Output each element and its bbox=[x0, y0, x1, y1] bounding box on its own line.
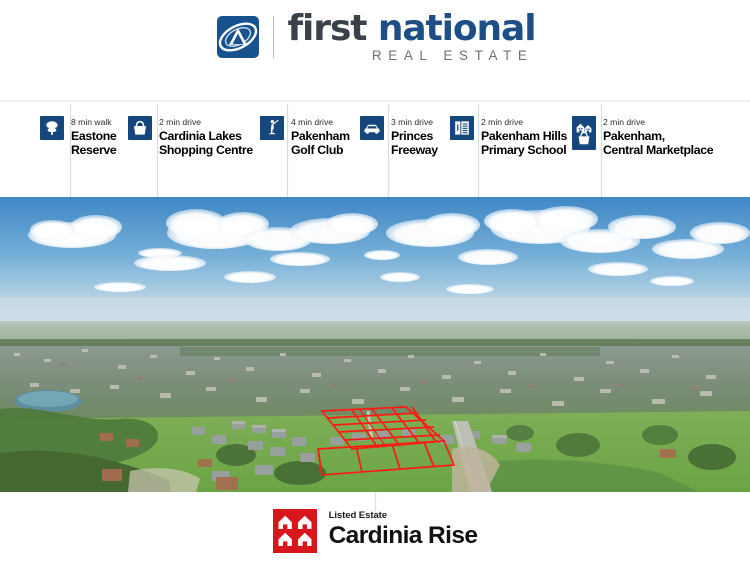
callout-pakenham-hills-primary-school[interactable]: 2 min drive Pakenham Hills Primary Schoo… bbox=[450, 116, 567, 158]
callout-time: 8 min walk bbox=[71, 117, 116, 128]
listed-estate-footer[interactable]: Listed Estate Cardinia Rise bbox=[0, 503, 750, 559]
callout-text: 2 min drive Pakenham Hills Primary Schoo… bbox=[481, 116, 567, 158]
estate-text: Listed Estate Cardinia Rise bbox=[329, 510, 478, 552]
brand-name-national: national bbox=[378, 8, 536, 49]
callout-text: 2 min drive Cardinia Lakes Shopping Cent… bbox=[159, 116, 253, 158]
callout-text: 8 min walk Eastone Reserve bbox=[71, 116, 116, 158]
aerial-photograph bbox=[0, 197, 750, 492]
callout-name: Princes Freeway bbox=[391, 129, 438, 158]
callout-text: 3 min drive Princes Freeway bbox=[391, 116, 438, 158]
brand-tagline: REAL ESTATE bbox=[288, 48, 536, 63]
estate-name: Cardinia Rise bbox=[329, 523, 478, 550]
callout-name: Pakenham, Central Marketplace bbox=[603, 129, 713, 158]
school-icon bbox=[450, 116, 474, 140]
brand-name-first: first bbox=[288, 8, 378, 49]
brand-divider bbox=[273, 16, 274, 58]
callout-time: 2 min drive bbox=[481, 117, 567, 128]
callout-time: 4 min drive bbox=[291, 117, 350, 128]
callout-name: Pakenham Hills Primary School bbox=[481, 129, 567, 158]
callout-time: 3 min drive bbox=[391, 117, 438, 128]
callout-text: 4 min drive Pakenham Golf Club bbox=[291, 116, 350, 158]
car-icon bbox=[360, 116, 384, 140]
callout-pakenham-golf-club[interactable]: 4 min drive Pakenham Golf Club bbox=[260, 116, 350, 158]
shopping-bag-icon bbox=[128, 116, 152, 140]
callout-time: 2 min drive bbox=[603, 117, 713, 128]
cardinia-rise-four-houses-logo-icon bbox=[273, 509, 317, 553]
brand-wordmark: first national REAL ESTATE bbox=[288, 11, 536, 62]
callout-name: Cardinia Lakes Shopping Centre bbox=[159, 129, 253, 158]
callout-pakenham-central-marketplace[interactable]: 2 min drive Pakenham, Central Marketplac… bbox=[572, 116, 713, 158]
listed-estate-kicker: Listed Estate bbox=[329, 510, 478, 522]
brand-name: first national bbox=[288, 11, 536, 46]
property-marketing-card: first national REAL ESTATE bbox=[0, 0, 750, 563]
callout-name: Eastone Reserve bbox=[71, 129, 116, 158]
callout-name: Pakenham Golf Club bbox=[291, 129, 350, 158]
callout-eastone-reserve[interactable]: 8 min walk Eastone Reserve bbox=[40, 116, 116, 158]
marketplace-icon bbox=[572, 116, 596, 150]
tree-icon bbox=[40, 116, 64, 140]
callout-text: 2 min drive Pakenham, Central Marketplac… bbox=[603, 116, 713, 158]
callout-time: 2 min drive bbox=[159, 117, 253, 128]
first-national-swirl-logo-icon bbox=[215, 14, 261, 60]
brand-header: first national REAL ESTATE bbox=[0, 8, 750, 66]
callout-cardinia-lakes-shopping-centre[interactable]: 2 min drive Cardinia Lakes Shopping Cent… bbox=[128, 116, 253, 158]
golfer-icon bbox=[260, 116, 284, 140]
callout-princes-freeway[interactable]: 3 min drive Princes Freeway bbox=[360, 116, 438, 158]
